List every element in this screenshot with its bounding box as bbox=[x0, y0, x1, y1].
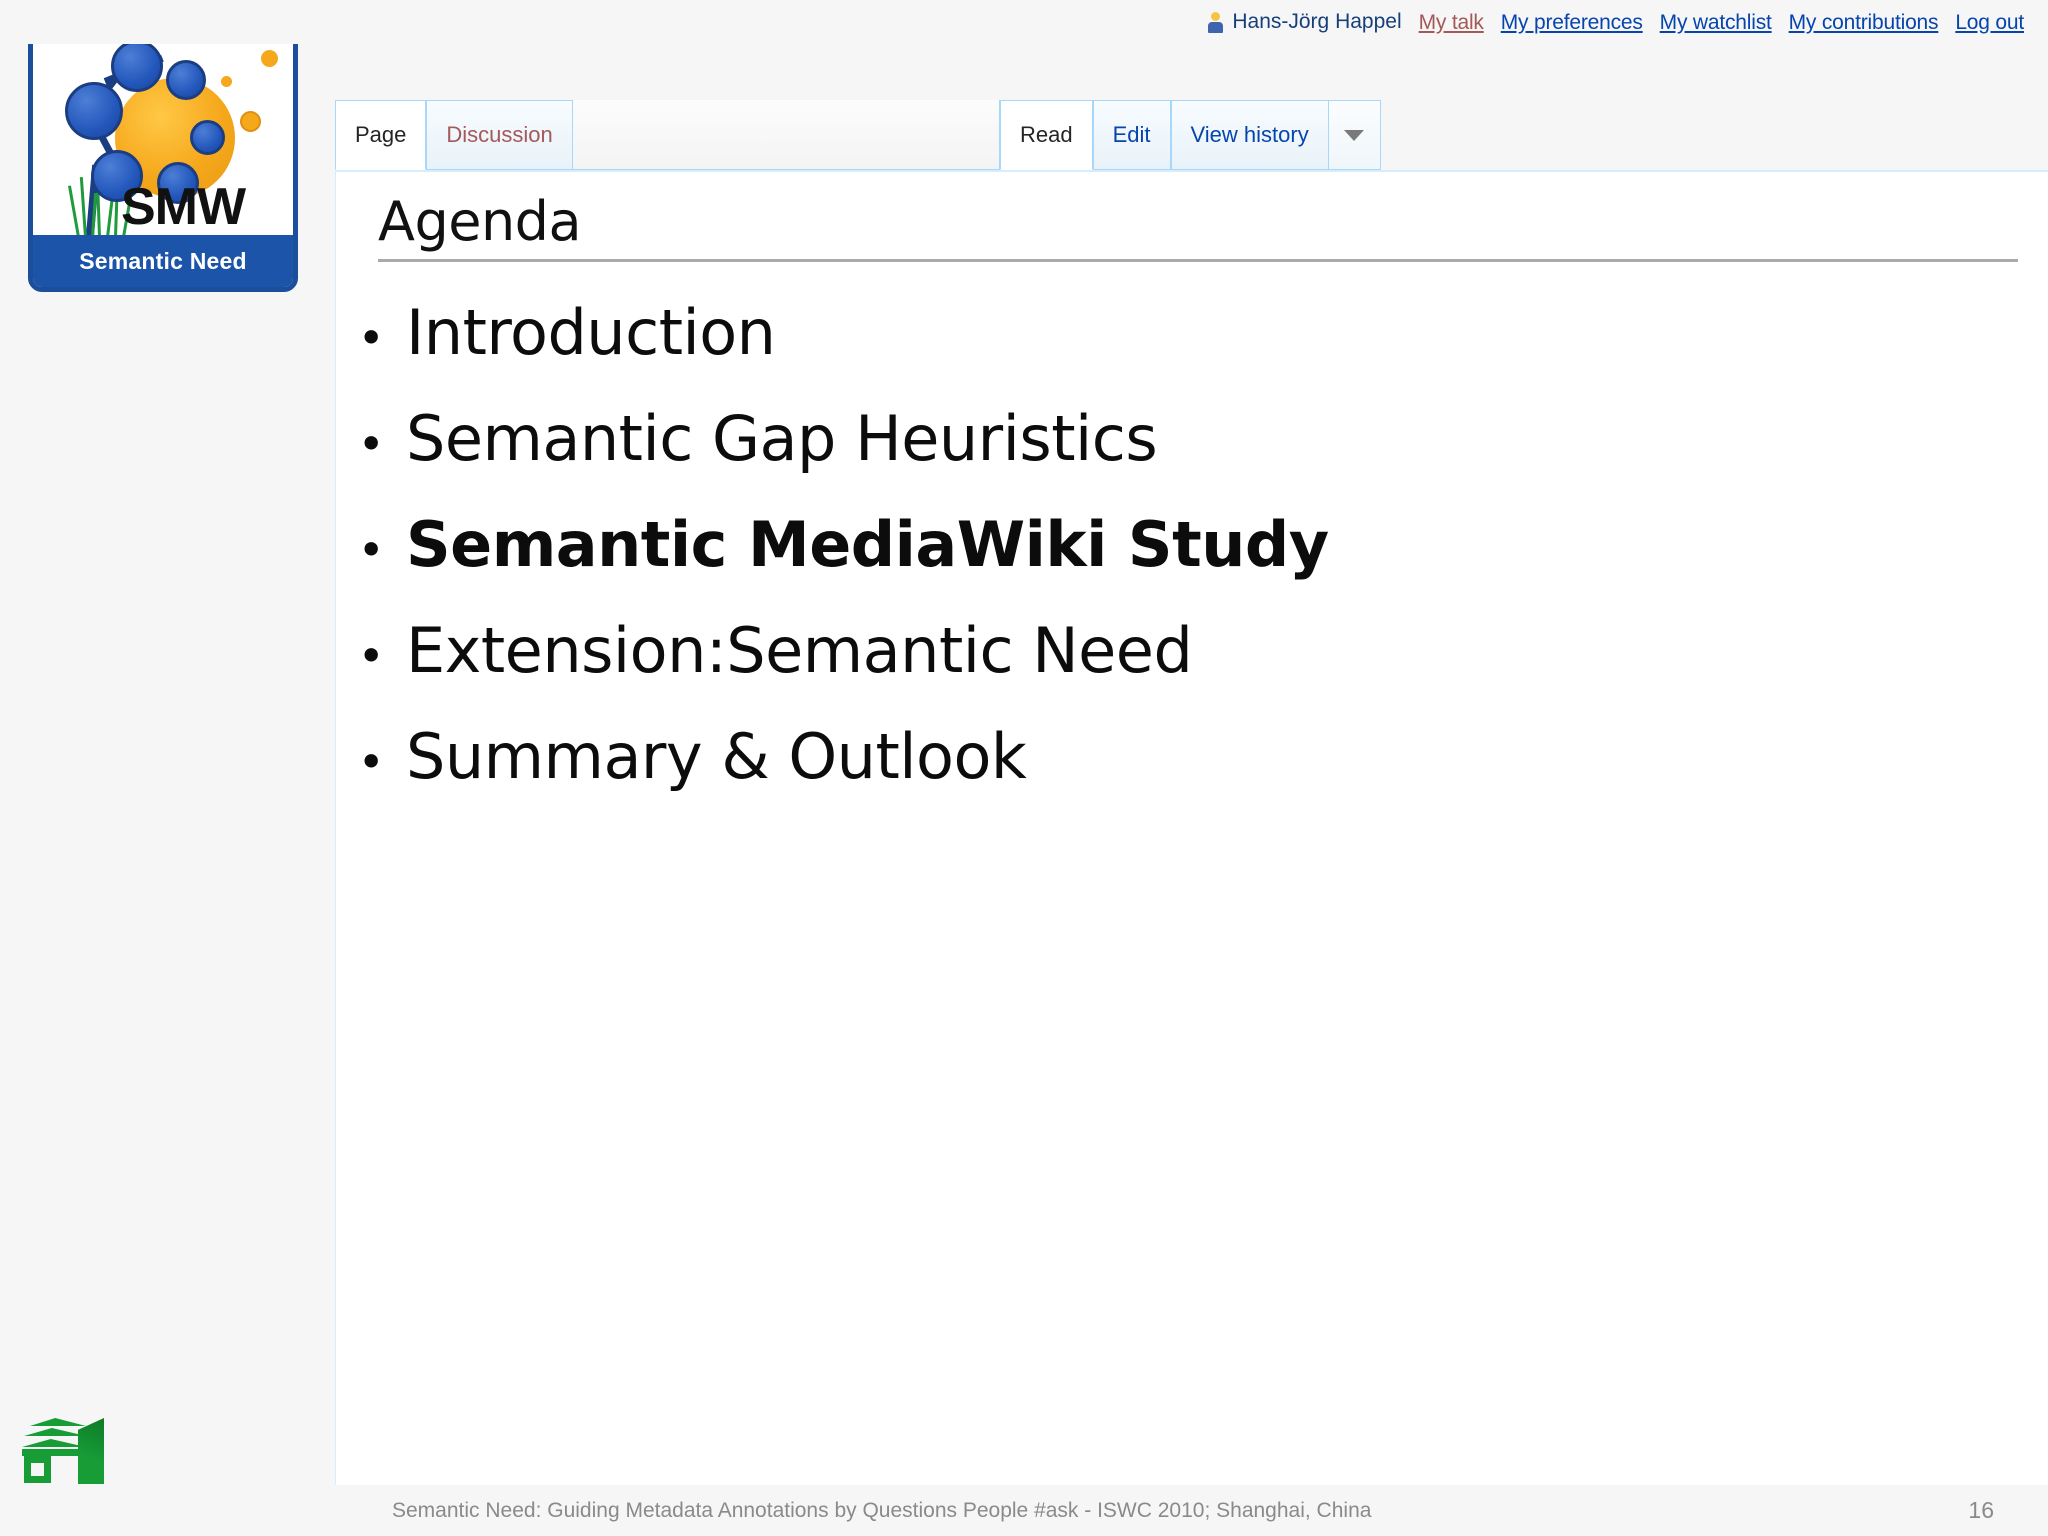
my-watchlist-link[interactable]: My watchlist bbox=[1660, 12, 1772, 33]
logo-node bbox=[65, 82, 123, 140]
bullet-icon: • bbox=[336, 421, 406, 467]
list-item[interactable]: • Semantic MediaWiki Study bbox=[336, 492, 2048, 598]
footer-note: Semantic Need: Guiding Metadata Annotati… bbox=[392, 1499, 1371, 1523]
personal-tools-bar: Hans-Jörg Happel My talk My preferences … bbox=[0, 0, 2048, 44]
smw-molecule-sun-logo: SMW bbox=[33, 32, 293, 237]
sidebar-logo[interactable]: SMW Semantic Need bbox=[28, 27, 298, 292]
chevron-down-icon bbox=[1344, 130, 1364, 141]
tab-bar: Page Discussion Read Edit View history G… bbox=[335, 78, 2048, 170]
user-account-link[interactable]: Hans-Jörg Happel bbox=[1207, 10, 1401, 34]
logo-dot bbox=[221, 76, 232, 87]
logo-node bbox=[190, 120, 225, 155]
my-preferences-link[interactable]: My preferences bbox=[1501, 12, 1643, 33]
list-item-label: Introduction bbox=[406, 302, 775, 364]
fzi-square-icon bbox=[24, 1456, 51, 1483]
tab-more-actions-button[interactable] bbox=[1329, 100, 1381, 170]
logo-node bbox=[111, 40, 163, 92]
logo-node bbox=[166, 60, 206, 100]
logo-dot bbox=[261, 50, 278, 67]
logo-dot bbox=[240, 111, 261, 132]
tab-view-history[interactable]: View history bbox=[1171, 100, 1329, 170]
list-item-label: Semantic MediaWiki Study bbox=[406, 514, 1329, 576]
tab-edit[interactable]: Edit bbox=[1093, 100, 1171, 170]
agenda-list: • Introduction • Semantic Gap Heuristics… bbox=[336, 280, 2048, 810]
user-icon bbox=[1207, 12, 1224, 33]
slide-footer: Semantic Need: Guiding Metadata Annotati… bbox=[0, 1485, 2048, 1536]
my-contributions-link[interactable]: My contributions bbox=[1789, 12, 1939, 33]
list-item-label: Summary & Outlook bbox=[406, 726, 1026, 788]
bullet-icon: • bbox=[336, 527, 406, 573]
bullet-icon: • bbox=[336, 633, 406, 679]
sidebar: SMW Semantic Need FZI bbox=[0, 0, 335, 1536]
title-divider bbox=[378, 259, 2018, 262]
username-label: Hans-Jörg Happel bbox=[1232, 10, 1401, 34]
list-item[interactable]: • Introduction bbox=[336, 280, 2048, 386]
tab-page[interactable]: Page bbox=[335, 100, 426, 170]
page-number: 16 bbox=[1968, 1497, 1994, 1524]
list-item-label: Extension:Semantic Need bbox=[406, 620, 1192, 682]
bullet-icon: • bbox=[336, 315, 406, 361]
list-item[interactable]: • Summary & Outlook bbox=[336, 704, 2048, 810]
view-tabs: Read Edit View history bbox=[1000, 100, 1381, 170]
list-item-label: Semantic Gap Heuristics bbox=[406, 408, 1157, 470]
fzi-mark-icon bbox=[20, 1418, 104, 1484]
namespace-tabs: Page Discussion bbox=[335, 100, 573, 170]
page-title: Agenda bbox=[378, 194, 2048, 251]
logo-banner-label: Semantic Need bbox=[33, 235, 293, 287]
tab-discussion[interactable]: Discussion bbox=[426, 100, 572, 170]
my-talk-link[interactable]: My talk bbox=[1419, 12, 1484, 33]
bullet-icon: • bbox=[336, 739, 406, 785]
tab-read[interactable]: Read bbox=[1000, 100, 1093, 170]
list-item[interactable]: • Semantic Gap Heuristics bbox=[336, 386, 2048, 492]
fzi-diagonal-icon bbox=[78, 1418, 104, 1484]
content-area: Agenda • Introduction • Semantic Gap Heu… bbox=[335, 170, 2048, 1485]
log-out-link[interactable]: Log out bbox=[1955, 12, 2024, 33]
logo-wordmark: SMW bbox=[121, 181, 245, 233]
list-item[interactable]: • Extension:Semantic Need bbox=[336, 598, 2048, 704]
